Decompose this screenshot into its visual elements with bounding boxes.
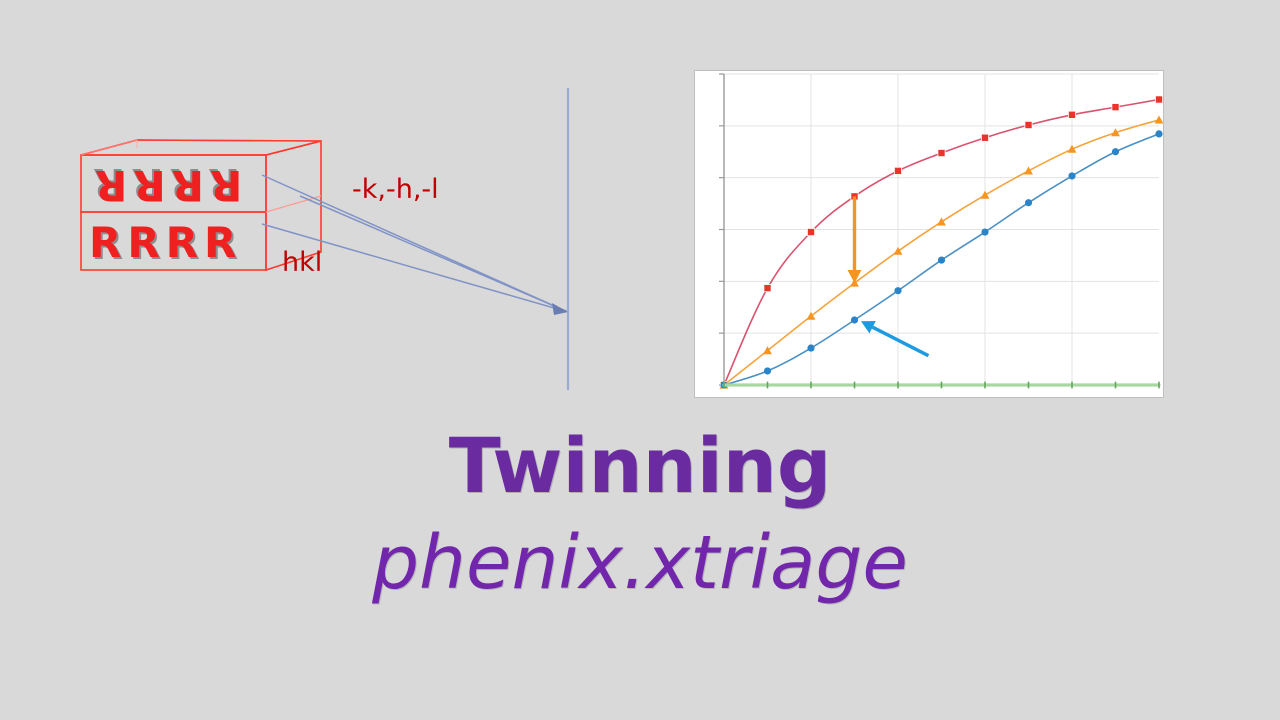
slide-canvas: RRRR RRRR -k,-h,-l hkl Twinning phenix.x… [0,0,1280,720]
marker-circle [1155,130,1162,137]
series-line-twinned-untwinned-upper [724,99,1159,385]
blue-pointer-arrow [861,321,928,356]
marker-square [764,285,771,292]
chart-svg [695,71,1163,397]
marker-circle [764,367,771,374]
marker-square [807,228,814,235]
crystal-diagram-svg [0,0,620,420]
marker-square [938,149,945,156]
marker-triangle [1068,145,1077,153]
marker-square [1112,104,1119,111]
marker-triangle [1024,166,1033,174]
twin-domain-bottom-letters: RRRR [89,222,242,264]
marker-circle [938,256,945,263]
marker-square [1068,111,1075,118]
marker-circle [1068,172,1075,179]
orange-down-arrow [848,196,862,283]
marker-square [981,134,988,141]
chart-annotations-group [848,196,929,355]
series-line-partially-twinned-middle [724,120,1159,385]
marker-circle [851,316,858,323]
series-baseline-zero [724,382,1159,389]
cumulative-intensity-chart [694,70,1164,398]
marker-triangle [1155,115,1163,123]
reflection-label-hkl: hkl [282,249,322,276]
page-title: Twinning [0,426,1280,506]
marker-circle [1112,148,1119,155]
ray-arrowhead [552,303,568,315]
marker-square [894,167,901,174]
twin-domain-top-letters: RRRR [89,164,242,206]
blue-pointer-arrow-shaft [873,327,929,356]
marker-triangle [937,217,946,225]
marker-circle [1025,199,1032,206]
marker-circle [981,228,988,235]
marker-triangle [894,247,903,255]
marker-triangle [981,191,990,199]
marker-circle [807,344,814,351]
chart-series-group [720,96,1163,389]
marker-square [1025,121,1032,128]
marker-circle [894,287,901,294]
marker-square [1155,96,1162,103]
crystal-diagram: RRRR RRRR -k,-h,-l hkl [0,0,620,420]
chart-gridlines [719,74,1159,385]
reflection-label-twin-operator: -k,-h,-l [352,176,439,203]
page-subtitle: phenix.xtriage [0,525,1280,603]
